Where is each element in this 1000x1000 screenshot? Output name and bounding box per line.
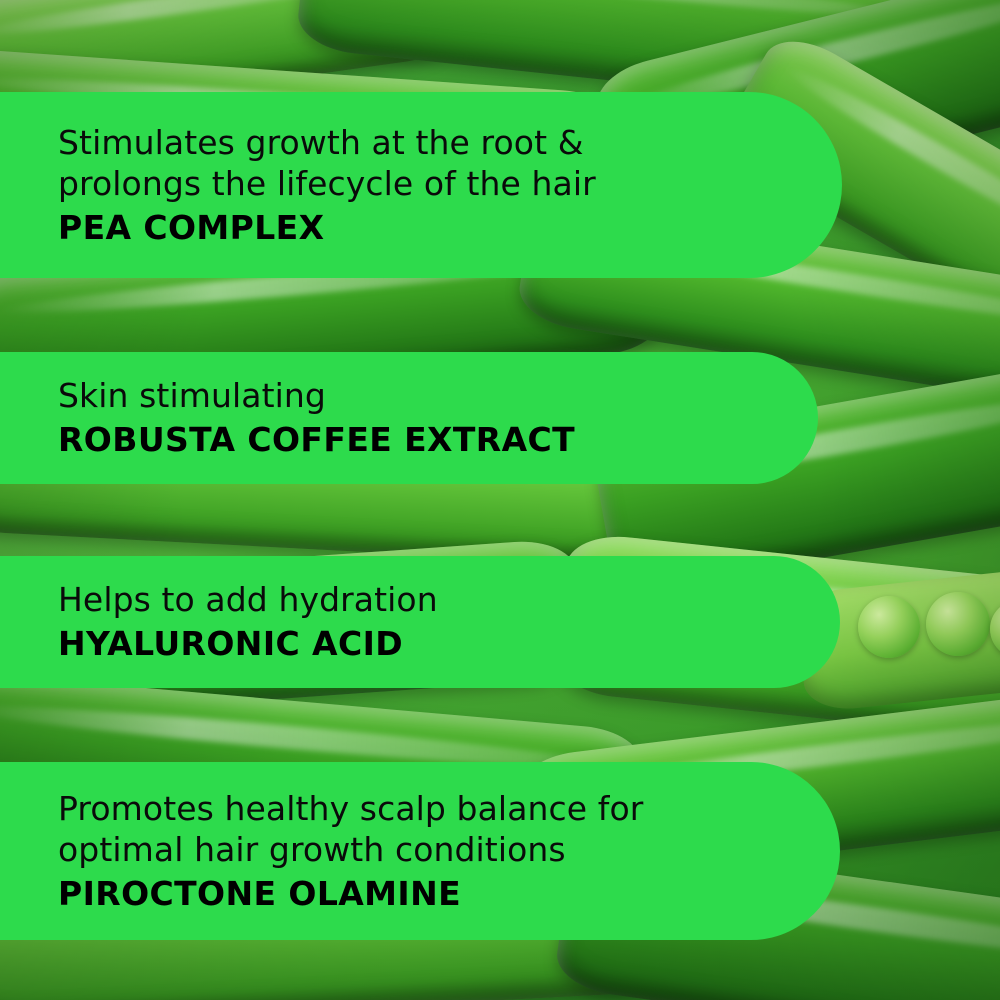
benefit-ingredient: HYALURONIC ACID — [58, 623, 794, 665]
benefit-ingredient: ROBUSTA COFFEE EXTRACT — [58, 419, 772, 461]
benefit-description: Skin stimulating — [58, 375, 772, 417]
benefit-description: Helps to add hydration — [58, 579, 794, 621]
benefit-ingredient: PEA COMPLEX — [58, 207, 796, 249]
benefit-description: Stimulates growth at the root & prolongs… — [58, 122, 796, 205]
benefit-ingredient: PIROCTONE OLAMINE — [58, 873, 794, 915]
pea-seed — [926, 592, 990, 656]
benefit-description: Promotes healthy scalp balance for optim… — [58, 788, 794, 871]
benefit-pill-pea-complex: Stimulates growth at the root & prolongs… — [0, 92, 842, 278]
benefit-pill-hyaluronic-acid: Helps to add hydration HYALURONIC ACID — [0, 556, 840, 688]
benefit-pill-piroctone-olamine: Promotes healthy scalp balance for optim… — [0, 762, 840, 940]
benefit-pill-robusta-coffee-extract: Skin stimulating ROBUSTA COFFEE EXTRACT — [0, 352, 818, 484]
pea-seed — [858, 596, 920, 658]
product-benefits-poster: Stimulates growth at the root & prolongs… — [0, 0, 1000, 1000]
